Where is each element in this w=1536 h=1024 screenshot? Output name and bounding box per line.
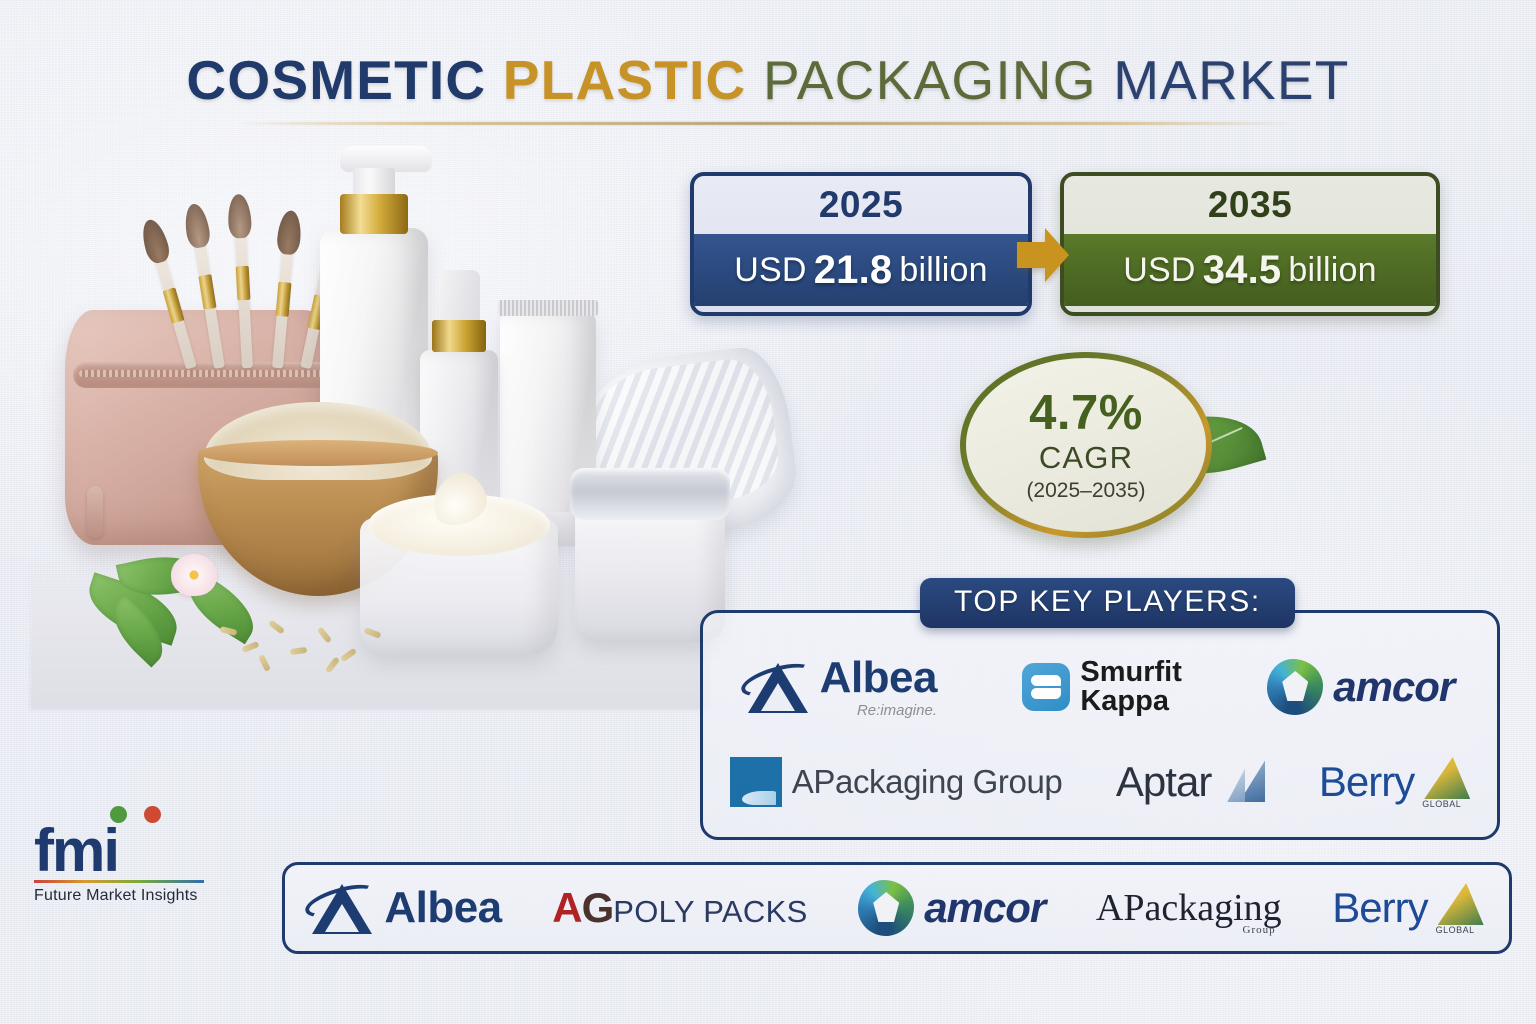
berry-triangle-icon: GLOBAL — [1438, 883, 1484, 933]
amcor-wordmark: amcor — [1333, 663, 1454, 711]
amcor-wordmark: amcor — [924, 884, 1045, 932]
albea-triangle-icon — [310, 880, 374, 936]
amcor-shield-icon — [858, 880, 914, 936]
bag-zipper-pull — [87, 486, 103, 538]
berry-sub-label: GLOBAL — [1436, 925, 1475, 935]
key-players-row-2: APackaging Group Aptar Berry GLOBAL — [703, 737, 1497, 827]
unit-2025: billion — [899, 251, 987, 290]
fmi-wordmark: fmi — [34, 824, 204, 878]
logo-smurfit-kappa[interactable]: Smurfit Kappa — [1022, 658, 1182, 716]
ag-letter-a: A — [552, 884, 581, 931]
green-dot-icon — [110, 806, 127, 823]
albea-wordmark: Albea — [384, 886, 501, 930]
apackaging-wordmark: APackaging — [1096, 887, 1282, 929]
unit-2035: billion — [1288, 251, 1376, 290]
berry-sub-label: GLOBAL — [1422, 799, 1461, 809]
cagr-period: (2025–2035) — [1026, 480, 1145, 501]
berry-triangle-icon: GLOBAL — [1424, 757, 1470, 807]
top-key-players-heading: TOP KEY PLAYERS: — [920, 578, 1295, 628]
cagr-label: CAGR — [1039, 442, 1133, 473]
year-label-2025: 2025 — [694, 176, 1028, 234]
albea-wordmark: Albea — [820, 656, 937, 700]
smurfit-line-1: Smurfit — [1080, 658, 1182, 687]
smurfit-line-2: Kappa — [1080, 687, 1182, 716]
title-segment-cosmetic: COSMETIC — [186, 49, 502, 111]
logo-albea[interactable]: Albea Re:imagine. — [746, 656, 937, 719]
amount-2035: 34.5 — [1203, 248, 1282, 293]
value-label-2035: USD34.5billion — [1064, 234, 1436, 306]
scattered-grains — [220, 618, 400, 668]
albea-tagline: Re:imagine. — [820, 702, 937, 719]
cagr-oval-border: 4.7% CAGR (2025–2035) — [960, 352, 1212, 538]
amcor-shield-icon — [1267, 659, 1323, 715]
aptar-sail-icon — [1221, 760, 1265, 804]
fmi-logo[interactable]: fmi Future Market Insights — [34, 806, 204, 905]
flower-icon — [171, 554, 217, 596]
apackaging-sub-label: Group — [1243, 924, 1276, 936]
market-size-2025-card: 2025 USD21.8billion — [690, 172, 1032, 316]
bottom-logo-amcor[interactable]: amcor — [858, 880, 1045, 936]
cagr-badge: 4.7% CAGR (2025–2035) — [960, 352, 1212, 538]
cosmetic-products-photo — [30, 150, 710, 710]
logo-amcor[interactable]: amcor — [1267, 659, 1454, 715]
top-key-players-panel: Albea Re:imagine. Smurfit Kappa amcor AP… — [700, 610, 1500, 840]
apackaging-wordmark: APackaging Group — [792, 763, 1063, 801]
title-segment-market: MARKET — [1113, 49, 1349, 111]
logo-berry[interactable]: Berry GLOBAL — [1319, 757, 1470, 807]
brush — [272, 244, 294, 368]
cagr-percent: 4.7% — [1029, 389, 1143, 438]
title-divider — [238, 122, 1298, 125]
red-dot-icon — [144, 806, 161, 823]
bottom-logo-albea[interactable]: Albea — [310, 880, 501, 936]
smurfit-kappa-icon — [1022, 663, 1070, 711]
apackaging-triangle-icon — [730, 755, 782, 809]
fmi-dots — [34, 806, 204, 824]
fmi-tagline: Future Market Insights — [34, 887, 204, 905]
title-segment-plastic: PLASTIC — [503, 49, 763, 111]
title-segment-packaging: PACKAGING — [763, 49, 1113, 111]
logo-aptar[interactable]: Aptar — [1116, 758, 1265, 806]
key-players-row-1: Albea Re:imagine. Smurfit Kappa amcor — [703, 637, 1497, 737]
page-title: COSMETIC PLASTIC PACKAGING MARKET — [0, 48, 1536, 125]
ag-letter-g: G — [582, 884, 614, 931]
currency-2035: USD — [1123, 251, 1195, 290]
bottom-logo-ag-poly-packs[interactable]: AGPOLY PACKS — [552, 884, 807, 932]
ag-poly-packs-label: POLY PACKS — [613, 894, 807, 929]
currency-2025: USD — [734, 251, 806, 290]
bottom-logo-strip: Albea AGPOLY PACKS amcor APackaging Grou… — [282, 862, 1512, 954]
ag-poly-packs-icon: AGPOLY PACKS — [552, 884, 807, 932]
brush — [235, 228, 253, 368]
value-label-2025: USD21.8billion — [694, 234, 1028, 306]
logo-apackaging-group[interactable]: APackaging Group — [730, 755, 1063, 809]
berry-wordmark: Berry — [1332, 884, 1427, 932]
aptar-wordmark: Aptar — [1116, 758, 1211, 806]
right-arrow-icon — [1017, 228, 1069, 282]
apackaging-serif-icon: APackaging Group — [1096, 886, 1282, 930]
bottom-logo-apackaging[interactable]: APackaging Group — [1096, 886, 1282, 930]
amount-2025: 21.8 — [814, 248, 893, 293]
albea-triangle-icon — [746, 659, 810, 715]
infographic-page: COSMETIC PLASTIC PACKAGING MARKET — [0, 0, 1536, 1024]
berry-wordmark: Berry — [1319, 758, 1414, 806]
brush — [193, 237, 225, 369]
bottom-logo-berry[interactable]: Berry GLOBAL — [1332, 883, 1483, 933]
market-size-2035-card: 2035 USD34.5billion — [1060, 172, 1440, 316]
year-label-2035: 2035 — [1064, 176, 1436, 234]
